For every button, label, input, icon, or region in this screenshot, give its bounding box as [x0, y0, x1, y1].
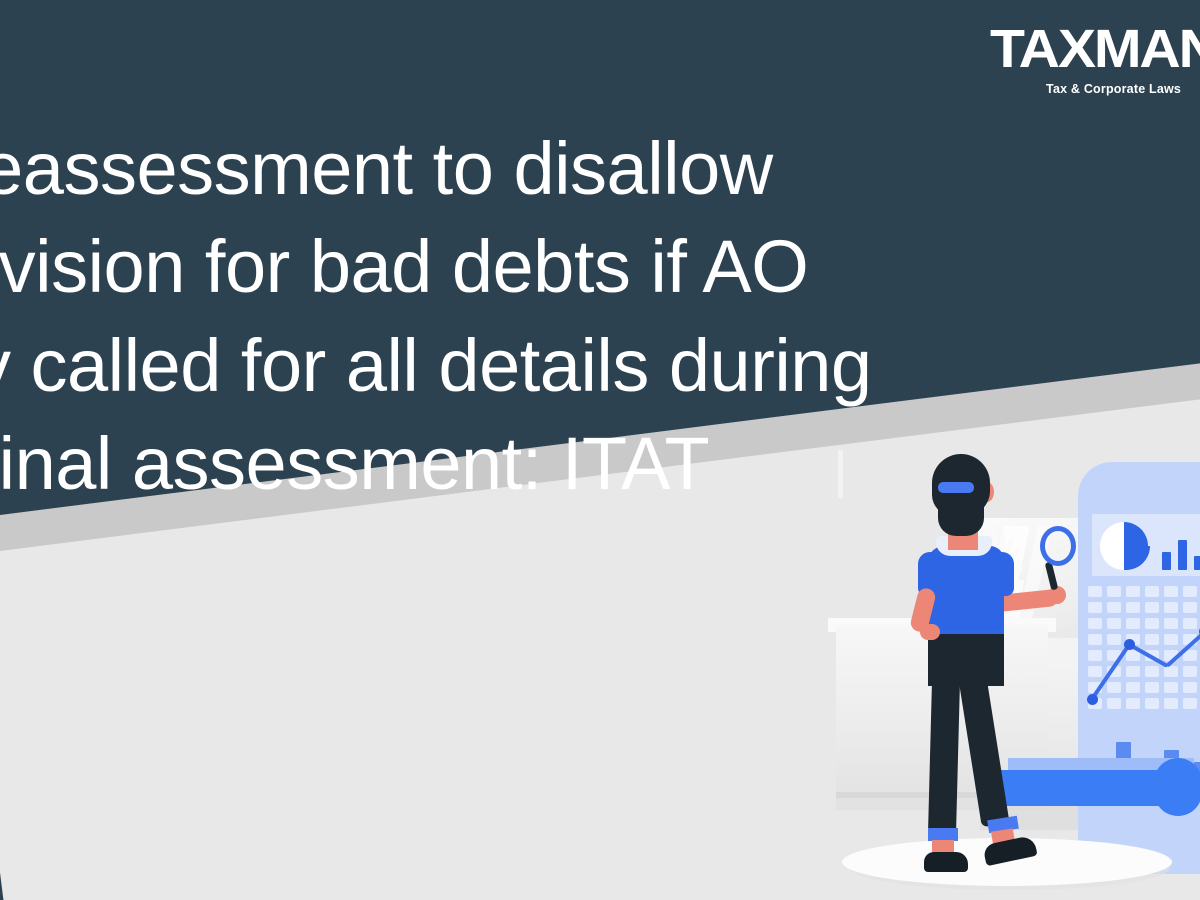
grid-cell	[1088, 618, 1102, 629]
grid-cell	[1088, 602, 1102, 613]
logo-tagline: Tax & Corporate Laws	[1046, 83, 1200, 96]
grid-cell	[1145, 698, 1159, 709]
grid-cell	[1107, 602, 1121, 613]
grid-cell	[1145, 634, 1159, 645]
grid-cell	[1107, 634, 1121, 645]
grid-cell	[1164, 602, 1178, 613]
grid-cell	[1183, 682, 1197, 693]
grid-cell	[1183, 586, 1197, 597]
grid-cell	[1145, 586, 1159, 597]
grid-cell	[1088, 666, 1102, 677]
wall-edge	[838, 450, 843, 498]
person-shoe-left	[924, 852, 968, 872]
grid-cell	[1107, 618, 1121, 629]
grid-cell	[1164, 586, 1178, 597]
grid-cell	[1126, 666, 1140, 677]
grid-cell	[1088, 634, 1102, 645]
minibar	[1194, 556, 1200, 570]
logo-wordmark: TAXMANN	[990, 22, 1200, 76]
grid-cell	[1164, 682, 1178, 693]
grid-cell	[1183, 618, 1197, 629]
headline-line-2: ovision for bad debts if AO	[0, 218, 1118, 316]
grid-cell	[1107, 698, 1121, 709]
minibar	[1178, 540, 1187, 570]
person-sleeve-right	[988, 552, 1014, 596]
grid-cell	[1107, 682, 1121, 693]
grid-cell	[1164, 698, 1178, 709]
taxmann-logo: TAXMANN Tax & Corporate Laws	[990, 22, 1200, 96]
grid-cell	[1183, 666, 1197, 677]
headline-line-3: ly called for all details during	[0, 317, 1118, 415]
grid-cell	[1164, 618, 1178, 629]
grid-cell	[1164, 634, 1178, 645]
grid-cell	[1088, 586, 1102, 597]
person-hand-left	[920, 624, 940, 640]
grid-cell	[1126, 586, 1140, 597]
illustration	[820, 440, 1200, 900]
grid-cell	[1164, 666, 1178, 677]
grid-cell	[1126, 618, 1140, 629]
magnifying-glass-icon	[1040, 526, 1076, 566]
minibar-chart	[1162, 522, 1200, 570]
grid-cell	[1145, 618, 1159, 629]
grid-cell	[1145, 666, 1159, 677]
grid-cell	[1088, 650, 1102, 661]
headline-line-1: reassessment to disallow	[0, 120, 1118, 218]
person-headband	[938, 482, 974, 493]
grid-cell	[1126, 602, 1140, 613]
line-data-point	[1087, 694, 1098, 705]
taxmann-news-banner: TAXMANN Tax & Corporate Laws reassessmen…	[0, 0, 1200, 900]
grid-cell	[1126, 698, 1140, 709]
grid-cell	[1183, 698, 1197, 709]
grid-cell	[1145, 682, 1159, 693]
grid-cell	[1145, 602, 1159, 613]
grid-cell	[1183, 602, 1197, 613]
scroll-roll-cap	[1154, 758, 1200, 816]
person-pants	[928, 630, 1004, 686]
person-leg-left	[928, 676, 960, 839]
grid-cell	[1107, 586, 1121, 597]
minibar	[1162, 552, 1171, 570]
grid-cell	[1126, 682, 1140, 693]
